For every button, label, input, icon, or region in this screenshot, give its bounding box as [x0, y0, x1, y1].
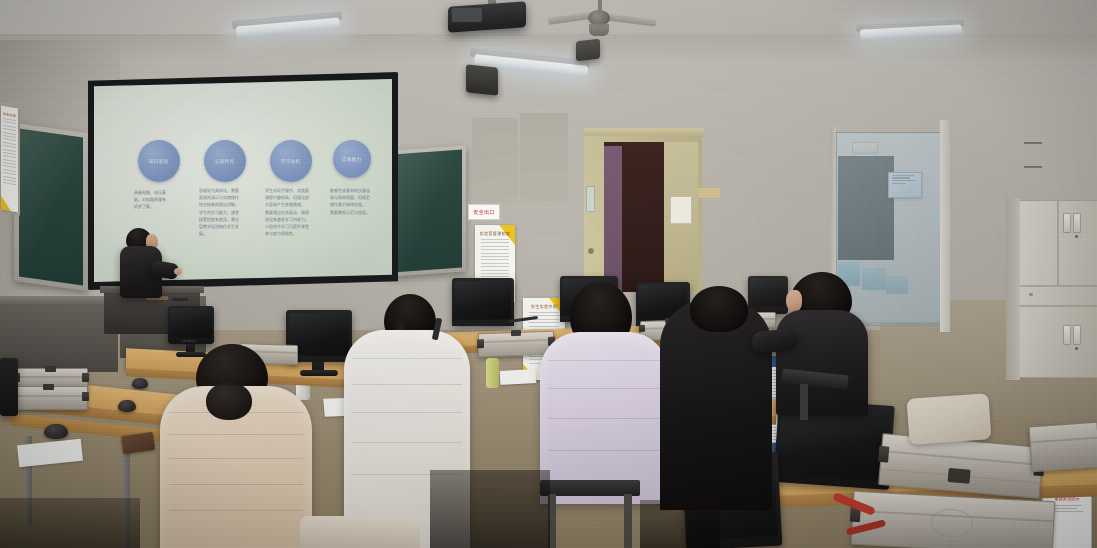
- door-handle: [588, 248, 594, 254]
- slide-col1-line2: 础，对电路原理有: [134, 197, 186, 203]
- exit-sign-label: 安全出口: [473, 209, 495, 216]
- chair-post-3: [624, 494, 632, 548]
- cabinet-side-panel: [1006, 198, 1020, 380]
- slide-column-3: 学生对动手操作、实践类 课程兴趣较高，但理论部 分容易产生畏难情绪。 需要通过任…: [265, 188, 321, 238]
- glass-partition: [836, 132, 944, 326]
- wall-speaker-right: [576, 39, 600, 62]
- slide-col1-line1: 具备电路、电压基: [134, 190, 186, 196]
- slide-col3-line2: 课程兴趣较高，但理论部: [265, 195, 321, 201]
- equipment-case-back-1: [478, 331, 554, 358]
- slide-col4-line3: 操作意识有待加强。: [330, 202, 382, 208]
- shadow-under-desk-1: [430, 470, 550, 548]
- student-1-ponytail: [206, 382, 252, 420]
- slide-col1-line3: 初步了解。: [134, 204, 186, 210]
- wall-tape-mark: [698, 188, 720, 198]
- slide-column-2: 思维较为具体化，需要 直观的演示与实物操作 结合抽象的理论讲解。 学生的学习能力…: [199, 188, 253, 238]
- monitor-mid-1: Lenovo: [168, 306, 214, 344]
- poster-bracket-upper: [1024, 142, 1042, 144]
- slide-col3-line4: 需要通过任务驱动、情境: [265, 210, 321, 216]
- blackboard-left-glare: [19, 129, 83, 286]
- monitor-front-left-edge: [0, 358, 18, 416]
- slide-circle-3-label: 学习动机: [281, 158, 301, 164]
- door-notice: [670, 196, 692, 224]
- student-3-coat: [540, 332, 668, 504]
- slide-col3-line6: 小组合作学习可提升课堂: [265, 224, 321, 230]
- slide-circle-4: 实践能力: [333, 140, 371, 178]
- slide-column-4: 能够完成基本的仪器连 接与简单测量，但规范 操作意识有待加强。 需要教师示范与指…: [330, 188, 382, 217]
- slide-circle-1-label: 知识基础: [149, 158, 169, 164]
- slide-circle-2-label: 认知特点: [215, 158, 235, 164]
- monitor-back-1: [452, 278, 514, 326]
- center-poster-2-title: 学生实验守则: [523, 304, 565, 310]
- paper-back-1: [500, 369, 537, 385]
- slide-col3-line1: 学生对动手操作、实践类: [265, 188, 321, 194]
- slide-circle-3: 学习动机: [270, 140, 312, 182]
- monitor-mid-2-base: [300, 370, 338, 376]
- slide-col2-line2: 直观的演示与实物操作: [199, 195, 253, 201]
- slide-col3-line3: 分容易产生畏难情绪。: [265, 202, 321, 208]
- slide-col2-line4: 学生的学习能力、课堂: [199, 210, 253, 216]
- slide-col3-line7: 参与度与积极性。: [265, 231, 321, 237]
- bag-on-desk: [906, 393, 991, 445]
- door-window: [586, 186, 595, 212]
- slide-col4-line4: 需要教师示范与指导。: [330, 210, 382, 216]
- classroom-photo: 规章制度 知识基础 认知特点 学习动机 实践能力 具备电路、电压基 础，对电: [0, 0, 1097, 548]
- slide-col4-line1: 能够完成基本的仪器连: [330, 188, 382, 194]
- chair-back-3: [300, 516, 420, 548]
- slide-col4-line2: 接与简单测量，但规范: [330, 195, 382, 201]
- mouse-mid-1: [132, 378, 148, 389]
- slide-col2-line3: 结合抽象的理论讲解。: [199, 202, 253, 208]
- storage-cabinet-right: [1018, 200, 1097, 378]
- fan-motor: [589, 24, 609, 36]
- monitor-mid-1-base: [176, 352, 206, 357]
- water-bottle-2: [486, 358, 499, 388]
- equipment-case-front-2: [12, 386, 88, 410]
- slide-col2-line7: 展。: [199, 231, 253, 237]
- student-5-face: [786, 290, 802, 312]
- blackboard-right-glare: [392, 150, 462, 273]
- exit-sign: 安全出口: [468, 204, 500, 220]
- equipment-case-foreground-3: [1028, 422, 1097, 473]
- left-wall-poster: 规章制度: [1, 106, 18, 213]
- slide-circle-4-label: 实践能力: [342, 156, 362, 162]
- door-lintel: [584, 128, 704, 136]
- student-4-hair: [690, 286, 748, 332]
- left-cabinet-top: [0, 296, 120, 304]
- student-5-coat: [776, 310, 868, 416]
- teacher-hand: [174, 268, 182, 275]
- case-print-mark: [930, 508, 973, 538]
- center-poster-1-title: 实验室管理制度: [475, 231, 515, 237]
- wall-speaker-left: [466, 64, 498, 95]
- slide-col2-line5: 接受程度有差异，需分: [199, 217, 253, 223]
- center-poster-frame-1: [472, 118, 518, 202]
- door-panel-inner: [604, 146, 622, 292]
- chair-post-1: [800, 384, 808, 420]
- slide-col2-line1: 思维较为具体化，需要: [199, 188, 253, 194]
- center-poster-frame-2: [520, 113, 568, 201]
- shadow-under-desk-2: [640, 500, 720, 548]
- monitor-brand-label-1: Lenovo: [182, 339, 196, 343]
- partition-post-right: [940, 120, 950, 332]
- slide-column-1: 具备电路、电压基 础，对电路原理有 初步了解。: [134, 190, 186, 212]
- podium-item-pointer: [172, 298, 188, 301]
- mouse-front-1: [44, 424, 68, 439]
- slide-circle-1: 知识基础: [138, 140, 180, 182]
- projector-lens: [452, 8, 482, 22]
- monitor-back-4: [748, 276, 788, 314]
- mouse-front-2: [118, 400, 136, 412]
- shadow-under-desk-3: [0, 498, 140, 548]
- slide-circle-2: 认知特点: [204, 140, 246, 182]
- poster-bracket-lower: [1024, 166, 1042, 168]
- slide-col3-line5: 创设来激发学习内驱力。: [265, 217, 321, 223]
- slide-col2-line6: 层教学促进每位学生发: [199, 224, 253, 230]
